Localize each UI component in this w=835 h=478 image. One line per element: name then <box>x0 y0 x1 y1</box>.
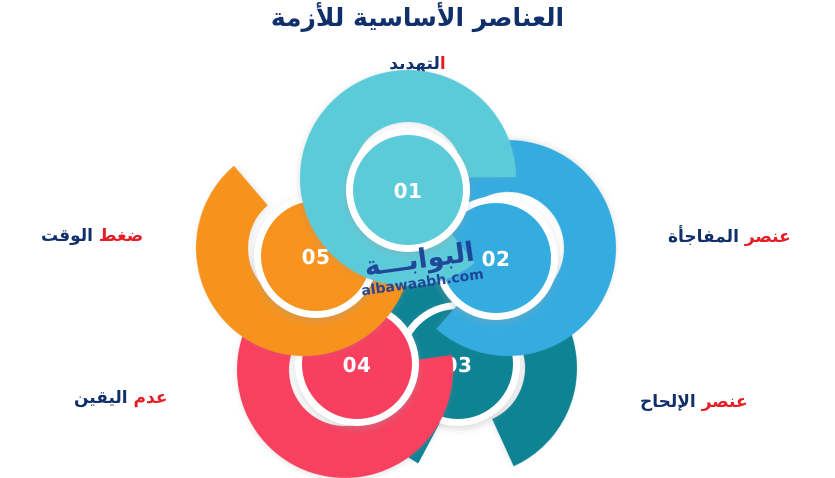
petal-label-surprise: عنصر المفاجأة <box>668 226 791 248</box>
petal-label-uncertainty-accent: عدم <box>134 388 168 408</box>
petal-label-uncertainty: عدم اليقين <box>74 387 167 409</box>
petal-label-surprise-rest: المفاجأة <box>668 227 739 247</box>
petal-label-time-pressure-rest: الوقت <box>41 226 93 246</box>
petal-02-number: 02 <box>482 247 511 271</box>
petal-label-threat-accent: ا <box>440 54 446 74</box>
petal-label-urgency: عنصر الإلحاح <box>640 391 748 413</box>
petal-label-time-pressure: ضغط الوقت <box>41 225 143 247</box>
petal-label-urgency-rest: الإلحاح <box>640 392 696 412</box>
petal-label-uncertainty-rest: اليقين <box>74 388 128 408</box>
petal-05-number: 05 <box>302 245 331 269</box>
petal-label-urgency-accent: عنصر <box>702 392 748 412</box>
petal-label-surprise-accent: عنصر <box>745 227 791 247</box>
page-title: العناصر الأساسية للأزمة <box>0 2 835 34</box>
flower-diagram: 03 04 05 02 01 <box>220 98 600 470</box>
petal-label-time-pressure-accent: ضغط <box>99 226 143 246</box>
petal-04-number: 04 <box>343 353 372 377</box>
petal-01-number: 01 <box>394 179 423 203</box>
